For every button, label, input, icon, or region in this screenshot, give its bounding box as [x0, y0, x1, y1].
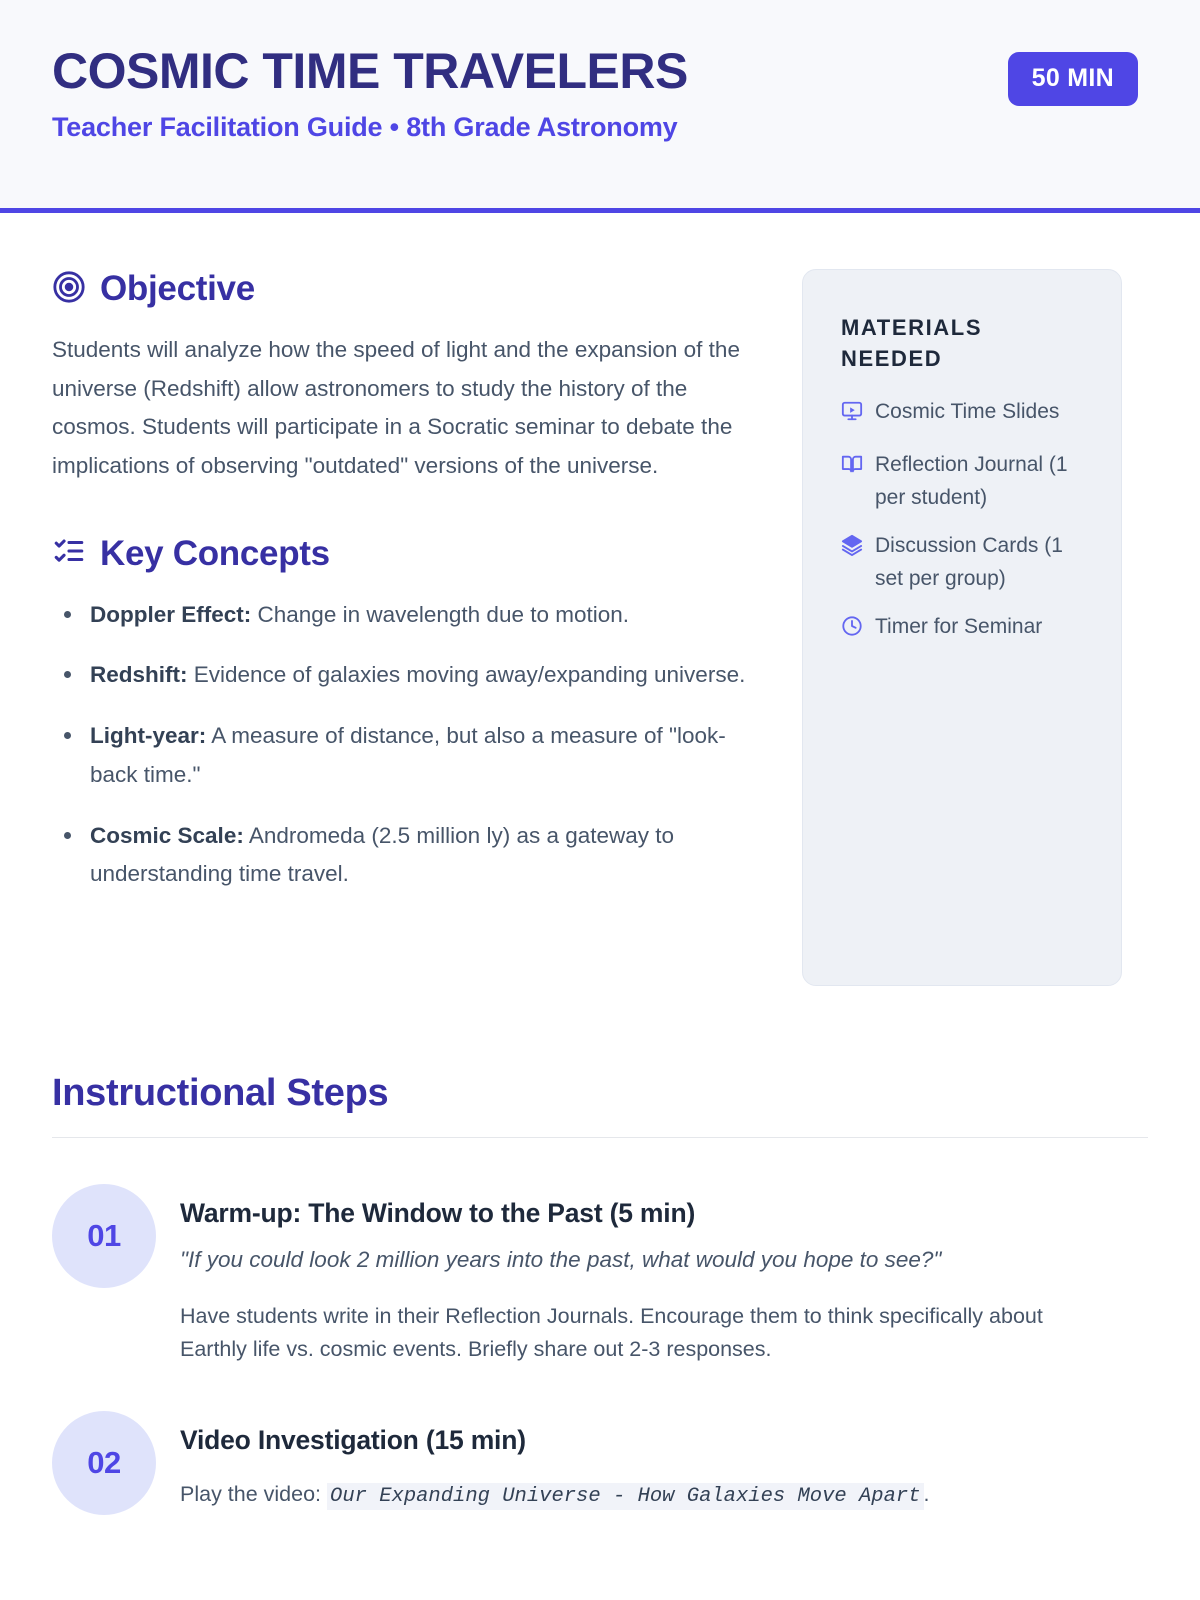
instructional-steps-section: Instructional Steps 01 Warm-up: The Wind… — [0, 986, 1200, 1515]
concept-term: Redshift: — [90, 662, 188, 687]
materials-title: MATERIALS NEEDED — [841, 312, 1087, 374]
concept-definition: Change in wavelength due to motion. — [251, 602, 629, 627]
page-header: COSMIC TIME TRAVELERS Teacher Facilitati… — [0, 0, 1200, 213]
objective-title: Objective — [100, 269, 255, 309]
key-concepts-heading-row: Key Concepts — [52, 534, 774, 574]
book-open-icon — [841, 453, 863, 486]
monitor-play-icon — [841, 400, 863, 433]
step-item: 01 Warm-up: The Window to the Past (5 mi… — [52, 1184, 1148, 1365]
top-section: Objective Students will analyze how the … — [0, 213, 1200, 986]
concept-term: Cosmic Scale: — [90, 823, 244, 848]
step-description-text: Play the video: — [180, 1482, 327, 1506]
step-number-badge: 02 — [52, 1411, 156, 1515]
left-column: Objective Students will analyze how the … — [52, 269, 774, 986]
list-item: Cosmic Scale: Andromeda (2.5 million ly)… — [52, 817, 770, 894]
list-item: Discussion Cards (1 set per group) — [841, 530, 1087, 595]
list-item: Cosmic Time Slides — [841, 396, 1087, 433]
section-divider — [52, 1137, 1148, 1138]
duration-badge: 50 MIN — [1008, 52, 1138, 106]
step-body: Video Investigation (15 min) Play the vi… — [180, 1411, 1148, 1515]
list-item: Timer for Seminar — [841, 611, 1087, 648]
key-concepts-list: Doppler Effect: Change in wavelength due… — [52, 596, 774, 894]
step-description-tail: . — [924, 1482, 930, 1506]
material-label: Cosmic Time Slides — [875, 396, 1059, 429]
step-description-text: Have students write in their Reflection … — [180, 1304, 1043, 1361]
step-item: 02 Video Investigation (15 min) Play the… — [52, 1411, 1148, 1515]
clock-icon — [841, 615, 863, 648]
target-icon — [52, 270, 86, 309]
objective-heading-row: Objective — [52, 269, 774, 309]
materials-list: Cosmic Time Slides Reflection Journal (1… — [841, 396, 1087, 647]
list-item: Reflection Journal (1 per student) — [841, 449, 1087, 514]
list-item: Doppler Effect: Change in wavelength due… — [52, 596, 770, 635]
material-label: Discussion Cards (1 set per group) — [875, 530, 1087, 595]
materials-card: MATERIALS NEEDED Cosmic Time Slides — [802, 269, 1122, 986]
step-number-badge: 01 — [52, 1184, 156, 1288]
concept-term: Light-year: — [90, 723, 206, 748]
list-item: Light-year: A measure of distance, but a… — [52, 717, 770, 794]
list-item: Redshift: Evidence of galaxies moving aw… — [52, 656, 770, 695]
step-description: Play the video: Our Expanding Universe -… — [180, 1478, 1110, 1512]
layers-icon — [841, 534, 863, 567]
video-title-code: Our Expanding Universe - How Galaxies Mo… — [327, 1483, 924, 1510]
instructional-steps-heading: Instructional Steps — [52, 1072, 1148, 1115]
material-label: Timer for Seminar — [875, 611, 1042, 644]
step-description: Have students write in their Reflection … — [180, 1300, 1110, 1365]
key-concepts-title: Key Concepts — [100, 534, 330, 574]
step-title: Video Investigation (15 min) — [180, 1425, 1148, 1456]
step-quote: "If you could look 2 million years into … — [180, 1243, 1080, 1278]
list-checks-icon — [52, 534, 86, 573]
right-column: MATERIALS NEEDED Cosmic Time Slides — [774, 269, 1148, 986]
concept-term: Doppler Effect: — [90, 602, 251, 627]
page-subtitle: Teacher Facilitation Guide • 8th Grade A… — [52, 112, 1148, 143]
step-body: Warm-up: The Window to the Past (5 min) … — [180, 1184, 1148, 1365]
objective-body: Students will analyze how the speed of l… — [52, 331, 752, 486]
concept-definition: Evidence of galaxies moving away/expandi… — [188, 662, 746, 687]
material-label: Reflection Journal (1 per student) — [875, 449, 1087, 514]
page-title: COSMIC TIME TRAVELERS — [52, 44, 1148, 98]
step-title: Warm-up: The Window to the Past (5 min) — [180, 1198, 1148, 1229]
